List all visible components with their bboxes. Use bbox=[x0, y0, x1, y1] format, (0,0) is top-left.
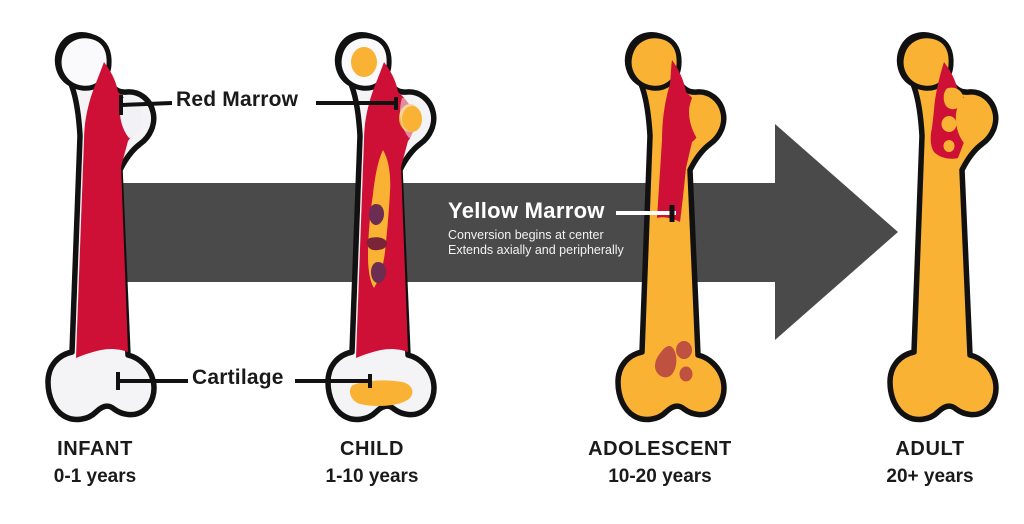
adolescent-residual-red-island bbox=[680, 367, 693, 382]
stage-years-adolescent: 10-20 years bbox=[540, 464, 780, 489]
bone-marrow-conversion-diagram: Red Marrow Cartilage Yellow Marrow Conve… bbox=[0, 0, 1024, 524]
stage-name-adolescent: ADOLESCENT bbox=[540, 437, 780, 462]
child-head-ossification-center bbox=[351, 47, 377, 77]
stage-years-infant: 0-1 years bbox=[0, 464, 215, 489]
stage-years-adult: 20+ years bbox=[810, 464, 1024, 489]
callout-yellow-marrow-subtitle: Conversion begins at center Extends axia… bbox=[448, 228, 624, 258]
callout-yellow-marrow-subtitle-line2: Extends axially and peripherally bbox=[448, 243, 624, 258]
stage-name-infant: INFANT bbox=[0, 437, 215, 462]
callout-cartilage-label: Cartilage bbox=[192, 366, 284, 389]
adolescent-residual-red-island bbox=[676, 341, 692, 359]
stage-name-adult: ADULT bbox=[810, 437, 1024, 462]
adult-yellow-island bbox=[942, 116, 957, 132]
adult-femur bbox=[890, 35, 996, 420]
stage-years-child: 1-10 years bbox=[252, 464, 492, 489]
callout-yellow-marrow-label: Yellow Marrow bbox=[448, 198, 624, 224]
stage-label-adult: ADULT 20+ years bbox=[810, 437, 1024, 489]
stage-label-child: CHILD 1-10 years bbox=[252, 437, 492, 489]
stage-label-infant: INFANT 0-1 years bbox=[0, 437, 215, 489]
adult-yellow-island bbox=[944, 140, 955, 152]
callout-red-marrow: Red Marrow bbox=[176, 88, 298, 112]
callout-red-marrow-label: Red Marrow bbox=[176, 88, 298, 111]
callout-yellow-marrow-subtitle-line1: Conversion begins at center bbox=[448, 228, 624, 243]
callout-cartilage: Cartilage bbox=[192, 366, 284, 390]
stage-name-child: CHILD bbox=[252, 437, 492, 462]
child-distal-ossification-center bbox=[350, 380, 412, 406]
callout-yellow-marrow: Yellow Marrow Conversion begins at cente… bbox=[448, 198, 624, 258]
stage-label-adolescent: ADOLESCENT 10-20 years bbox=[540, 437, 780, 489]
